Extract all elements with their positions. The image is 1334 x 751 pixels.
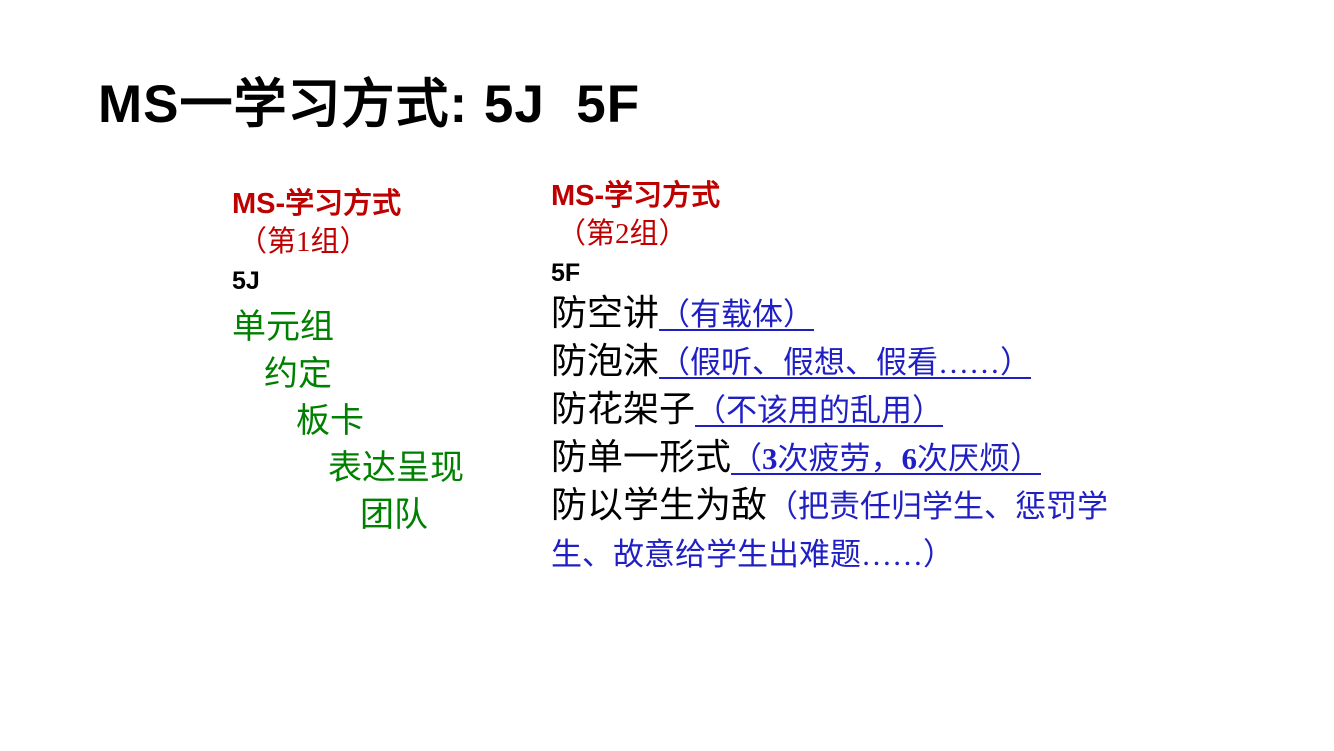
list-item-head: 防空讲 xyxy=(551,293,659,333)
right-item-list: 防空讲（有载体） 防泡沫（假听、假想、假看……） 防花架子（不该用的乱用） 防单… xyxy=(551,290,1161,578)
list-item: 防花架子（不该用的乱用） xyxy=(551,386,1161,434)
left-code-label: 5J xyxy=(232,264,532,298)
list-item-note: （假听、假想、假看……） xyxy=(659,345,1031,380)
note-emphasis-2: 6 xyxy=(902,441,918,476)
list-item-head: 防花架子 xyxy=(551,389,695,429)
list-item: 表达呈现 xyxy=(232,445,532,492)
note-prefix: （ xyxy=(731,441,762,476)
slide-canvas: MS一学习方式: 5J 5F MS-学习方式 （第1组） 5J 单元组 约定 板… xyxy=(0,0,1334,751)
list-item: 板卡 xyxy=(232,398,532,445)
list-item: 防泡沫（假听、假想、假看……） xyxy=(551,338,1161,386)
right-group-title: MS-学习方式 xyxy=(551,178,1161,214)
note-mid-2: 次厌烦） xyxy=(917,441,1041,476)
left-group-title: MS-学习方式 xyxy=(232,186,532,222)
list-item-note: （3次疲劳，6次厌烦） xyxy=(731,441,1041,476)
list-item: 约定 xyxy=(232,351,532,398)
right-column: MS-学习方式 （第2组） 5F 防空讲（有载体） 防泡沫（假听、假想、假看……… xyxy=(551,178,1161,578)
note-emphasis-1: 3 xyxy=(762,441,778,476)
note-mid-1: 次疲劳， xyxy=(778,441,902,476)
left-group-subtitle: （第1组） xyxy=(232,222,532,262)
left-column: MS-学习方式 （第1组） 5J 单元组 约定 板卡 表达呈现 团队 xyxy=(232,186,532,539)
list-item: 单元组 xyxy=(232,304,532,351)
left-item-list: 单元组 约定 板卡 表达呈现 团队 xyxy=(232,304,532,539)
list-item-head: 防泡沫 xyxy=(551,341,659,381)
list-item: 团队 xyxy=(232,492,532,539)
list-item-note: （有载体） xyxy=(659,297,814,332)
list-item-head: 防单一形式 xyxy=(551,437,731,477)
right-group-subtitle: （第2组） xyxy=(551,214,1161,254)
list-item: 防空讲（有载体） xyxy=(551,290,1161,338)
list-item: 防以学生为敌（把责任归学生、惩罚学生、故意给学生出难题……） xyxy=(551,482,1161,578)
page-title: MS一学习方式: 5J 5F xyxy=(98,74,640,136)
list-item-head: 防以学生为敌 xyxy=(551,485,767,525)
right-code-label: 5F xyxy=(551,256,1161,290)
list-item-note: （不该用的乱用） xyxy=(695,393,943,428)
list-item: 防单一形式（3次疲劳，6次厌烦） xyxy=(551,434,1161,482)
